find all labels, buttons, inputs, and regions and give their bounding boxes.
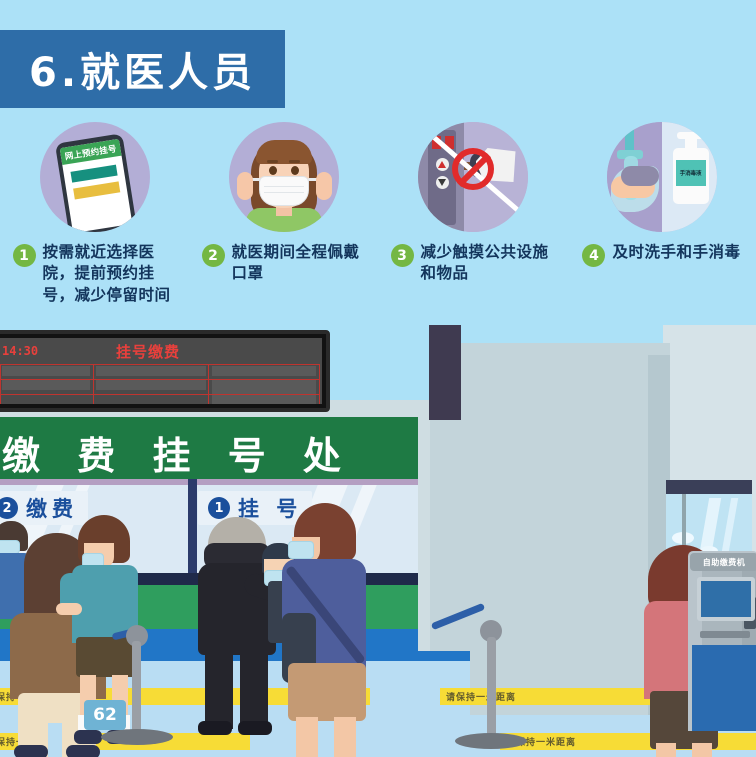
service-window-number-2: 2 — [0, 497, 18, 519]
prohibition-icon — [452, 148, 494, 190]
page-title: 6.就医人员 — [29, 40, 256, 98]
smartphone-shape: 网上预约挂号 — [54, 133, 136, 232]
hair-fringe-shape — [256, 140, 312, 164]
tip-text-1: 按需就近选择医院，提前预约挂号，减少停留时间 — [43, 242, 177, 306]
service-window-number-1: 1 — [208, 497, 230, 519]
phone-row-teal — [70, 165, 117, 183]
kiosk-label: 自助缴费机 — [703, 557, 746, 568]
page-number-badge: 62 — [84, 700, 126, 730]
eyebrow-left — [267, 160, 278, 163]
tip-badge-2: 2 — [202, 244, 225, 267]
hospital-scene-illustration: 14:30 挂号缴费 — [0, 325, 756, 757]
floor-distance-text-2: 请保持一米距离 — [440, 690, 516, 703]
hand-right — [316, 172, 332, 200]
tip-badge-3: 3 — [391, 244, 414, 267]
kiosk-card-slot — [700, 631, 750, 638]
kiosk-lower-body — [692, 645, 756, 731]
section-header-bar: 6.就医人员 — [0, 30, 285, 108]
led-time: 14:30 — [2, 344, 38, 358]
hand-left — [237, 172, 253, 200]
dark-pillar — [429, 325, 461, 420]
led-display-board: 14:30 挂号缴费 — [0, 330, 330, 412]
tip-text-4: 及时洗手和手消毒 — [612, 242, 740, 263]
stanchion-post-left — [132, 641, 141, 737]
tip-badge-1: 1 — [13, 244, 36, 267]
woman-wearing-mask-icon — [229, 122, 339, 232]
led-table-grid — [0, 364, 320, 404]
kiosk-screen — [697, 577, 755, 621]
kiosk-header-band: 自助缴费机 — [690, 553, 756, 571]
tips-row: 网上预约挂号 1 按需就近选择医院，提前预约挂号，减少停留时间 — [0, 122, 756, 332]
counter-green-sign: 缴 费 挂 号 处 — [0, 417, 418, 479]
tip-card-4: 手消毒液 4 及时洗手和手消毒 — [567, 122, 756, 332]
poster-page: 6.就医人员 网上预约挂号 1 按需就近选择医院，提前预约挂号，减少停留时间 — [0, 0, 756, 757]
elevator-down-button-icon — [436, 176, 449, 189]
eyebrow-right — [289, 160, 300, 163]
phone-online-appointment-icon: 网上预约挂号 — [40, 122, 150, 232]
service-window-sign-1: 1 挂 号 — [198, 491, 312, 525]
elevator-up-button-icon — [436, 158, 449, 171]
phone-row-yellow — [73, 181, 120, 199]
mask-person-blue-shirt — [288, 541, 314, 559]
stanchion-base-left — [101, 729, 173, 745]
mask-person-far-left — [0, 540, 20, 554]
tip-badge-4: 4 — [582, 244, 605, 267]
tip-card-1: 网上预约挂号 1 按需就近选择医院，提前预约挂号，减少停留时间 — [0, 122, 189, 332]
led-title: 挂号缴费 — [116, 341, 180, 362]
washing-hand-upper — [621, 166, 659, 186]
tip-card-2: 2 就医期间全程佩戴口罩 — [189, 122, 378, 332]
stanchion-base-right — [455, 733, 527, 749]
handwashing-sanitizer-icon: 手消毒液 — [607, 122, 717, 232]
counter-sign-text: 缴 费 挂 号 处 — [2, 425, 353, 480]
eye-left — [269, 166, 277, 175]
service-window-sign-2: 2 缴费 — [0, 491, 88, 525]
face-mask-shape — [259, 176, 309, 206]
service-window-label-2: 缴费 — [26, 493, 78, 523]
faucet-pipe-shape — [625, 130, 634, 152]
no-touch-public-facility-icon — [418, 122, 528, 232]
sanitizer-bottle-label: 手消毒液 — [676, 160, 706, 186]
tip-text-2: 就医期间全程佩戴口罩 — [232, 242, 366, 285]
window-header-bar — [666, 480, 752, 494]
tip-text-3: 减少触摸公共设施和物品 — [421, 242, 555, 285]
eye-right — [291, 166, 299, 175]
tip-card-3: 3 减少触摸公共设施和物品 — [378, 122, 567, 332]
stanchion-post-right — [487, 637, 496, 741]
phone-screen-label: 网上预约挂号 — [59, 139, 121, 165]
sanitizer-bottle-shape: 手消毒液 — [673, 148, 709, 204]
